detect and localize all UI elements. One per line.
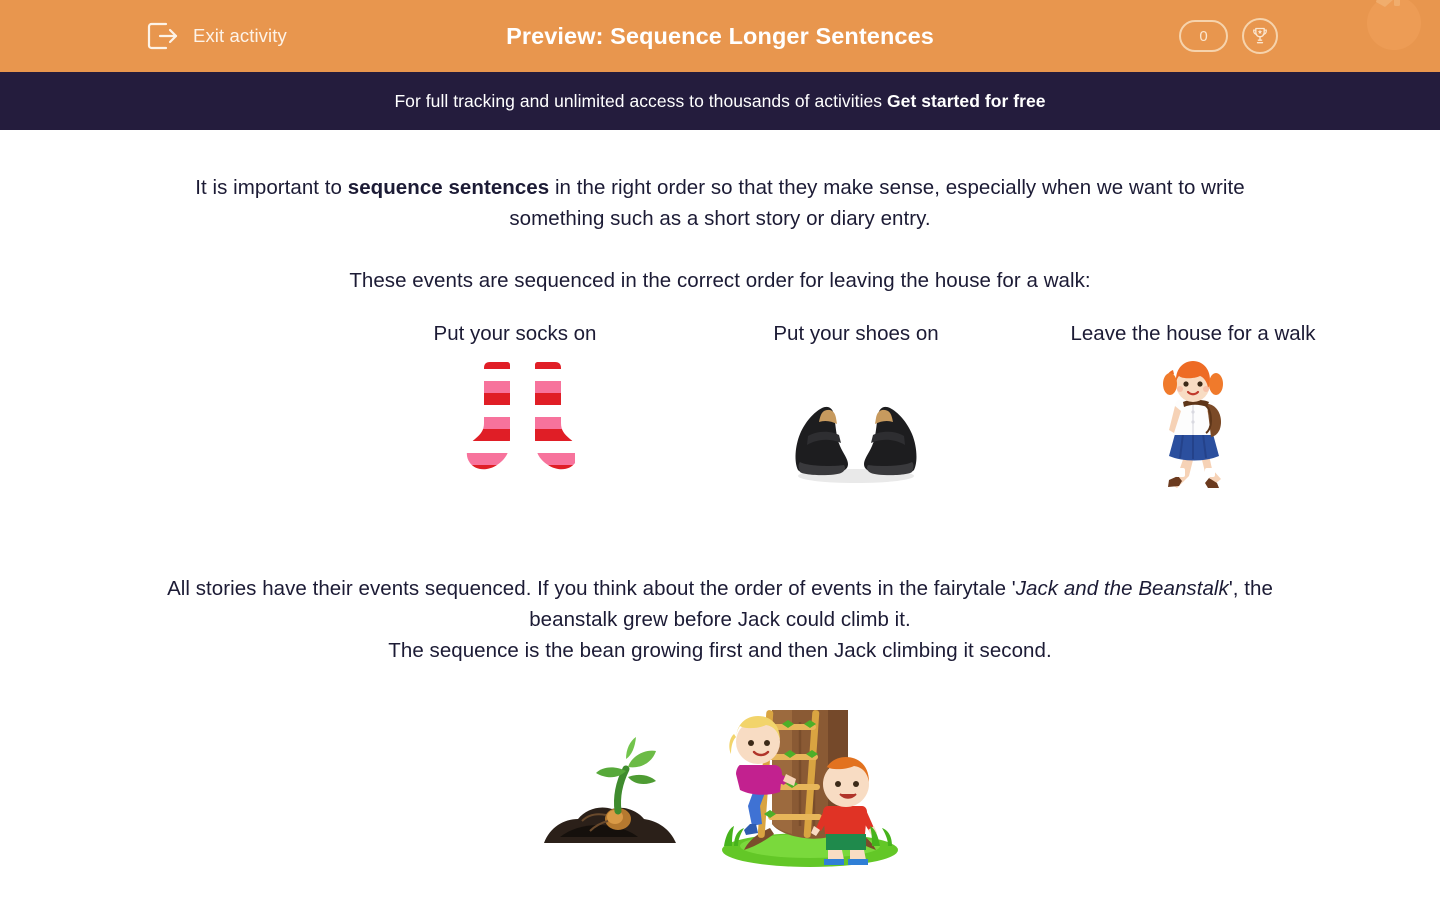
boys-climbing-ladder-by-tree-image [710, 710, 905, 868]
intro-text-bold: sequence sentences [348, 176, 549, 199]
exit-icon [146, 21, 182, 51]
sequence-step-walk: Leave the house for a walk [750, 322, 1440, 496]
jack-text-part1: All stories have their events sequenced.… [167, 577, 1016, 600]
activity-page: Exit activity Preview: Sequence Longer S… [0, 0, 1440, 900]
orange-fruit-logo [1356, 0, 1428, 53]
jack-sequence-line: The sequence is the bean growing first a… [388, 639, 1051, 662]
sequence-row: Put your socks on [150, 322, 1290, 507]
intro-paragraph: It is important to sequence sentences in… [150, 172, 1290, 234]
seedling-sprouting-in-soil-image [542, 715, 692, 843]
exit-activity-label: Exit activity [193, 25, 287, 47]
top-bar: Exit activity Preview: Sequence Longer S… [0, 0, 1440, 72]
beanstalk-image-row [150, 710, 1290, 882]
events-heading: These events are sequenced in the correc… [150, 265, 1290, 296]
intro-text-part2: in the right order so that they make sen… [509, 176, 1244, 230]
activity-content: It is important to sequence sentences in… [0, 130, 1440, 900]
trophy-button[interactable] [1242, 18, 1278, 54]
promo-text: For full tracking and unlimited access t… [394, 91, 882, 112]
sequence-step-label: Leave the house for a walk [750, 322, 1440, 346]
girl-walking-with-backpack-image [1143, 356, 1243, 496]
topbar-actions: 0 [1179, 0, 1278, 72]
sequence-step-image-wrap [750, 356, 1440, 496]
exit-activity-button[interactable]: Exit activity [146, 0, 287, 72]
jack-paragraph: All stories have their events sequenced.… [150, 573, 1290, 666]
trophy-icon [1250, 26, 1270, 46]
promo-banner: For full tracking and unlimited access t… [0, 72, 1440, 130]
jack-title-italic: Jack and the Beanstalk [1016, 577, 1229, 600]
intro-text-part1: It is important to [195, 176, 347, 199]
score-counter-value: 0 [1199, 28, 1207, 45]
get-started-link[interactable]: Get started for free [887, 91, 1046, 112]
score-counter-badge[interactable]: 0 [1179, 20, 1228, 52]
